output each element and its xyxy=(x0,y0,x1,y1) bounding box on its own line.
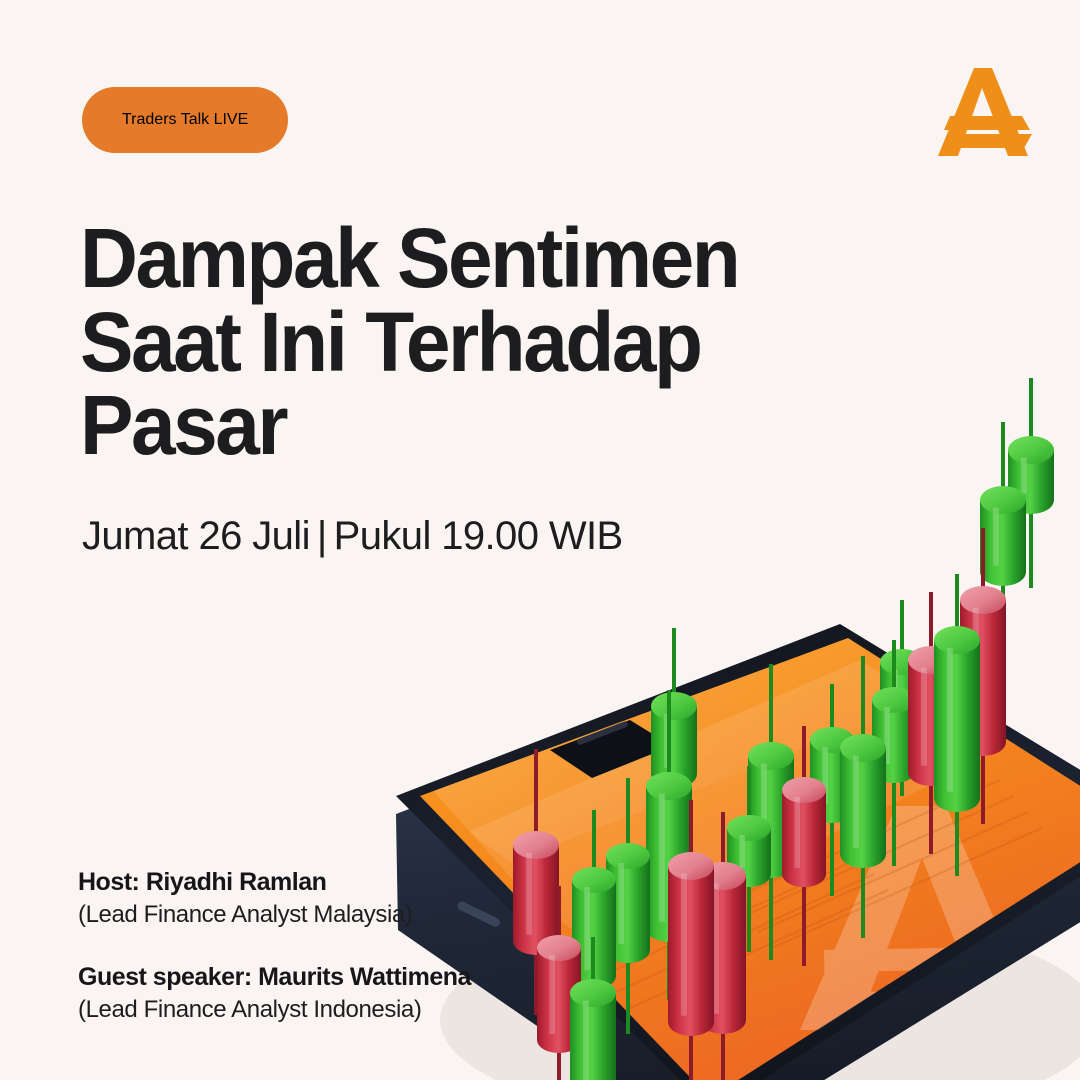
credit-host: Host: Riyadhi Ramlan (Lead Finance Analy… xyxy=(78,866,471,931)
candlestick-21-up xyxy=(1008,378,1054,588)
credit-guest-role: (Lead Finance Analyst Indonesia) xyxy=(78,994,471,1026)
schedule-time: Pukul 19.00 WIB xyxy=(334,514,623,558)
headline-line-2: Saat Ini Terhadap xyxy=(80,301,806,384)
headline-line-1: Dampak Sentimen xyxy=(80,217,806,300)
ajaib-a-logo-icon xyxy=(930,60,1038,164)
schedule-date: Jumat 26 Juli xyxy=(82,514,310,558)
credit-guest: Guest speaker: Maurits Wattimena (Lead F… xyxy=(78,961,471,1026)
promo-poster: Traders Talk LIVE Dampak Sentimen Saat I… xyxy=(0,0,1080,1080)
credit-host-name: Host: Riyadhi Ramlan xyxy=(78,866,471,899)
schedule-separator: | xyxy=(310,514,334,558)
credit-guest-name: Guest speaker: Maurits Wattimena xyxy=(78,961,471,994)
page-title: Dampak Sentimen Saat Ini Terhadap Pasar xyxy=(80,217,840,466)
live-badge[interactable]: Traders Talk LIVE xyxy=(82,87,288,153)
credit-host-role: (Lead Finance Analyst Malaysia) xyxy=(78,899,471,931)
live-badge-label: Traders Talk LIVE xyxy=(122,111,248,129)
credits-block: Host: Riyadhi Ramlan (Lead Finance Analy… xyxy=(78,866,471,1025)
schedule-line: Jumat 26 Juli|Pukul 19.00 WIB xyxy=(82,514,623,559)
headline-line-3: Pasar xyxy=(80,384,806,467)
